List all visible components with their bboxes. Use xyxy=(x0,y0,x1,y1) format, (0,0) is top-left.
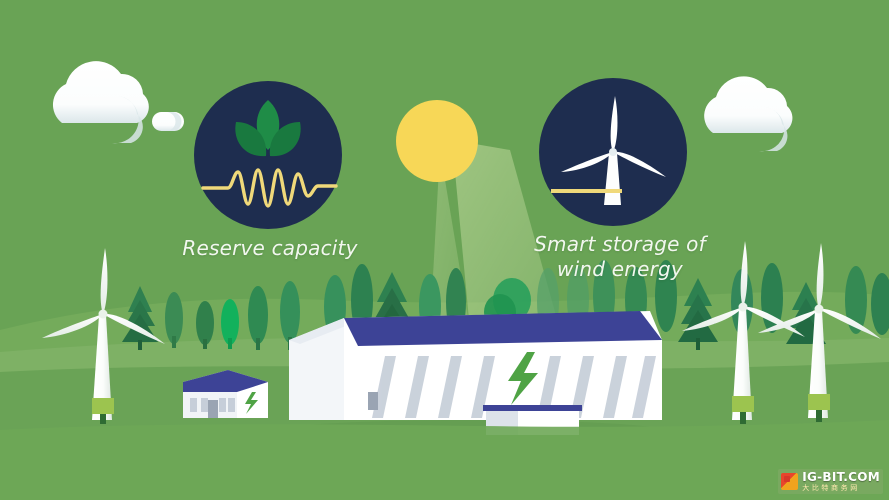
ig-bit-logo-icon xyxy=(781,473,798,490)
illustration-canvas: Reserve capacity Smart storage of wind e… xyxy=(0,0,889,500)
badge-smart-storage-graphic[interactable] xyxy=(539,78,687,226)
badge-label-smart-storage: Smart storage of wind energy xyxy=(500,232,740,282)
watermark-sub-text: 大比特商务网 xyxy=(802,485,880,492)
foreground-grass xyxy=(0,420,889,500)
watermark-texts: IG-BIT.COM 大比特商务网 xyxy=(802,471,880,492)
watermark-main-text: IG-BIT.COM xyxy=(802,471,880,483)
sun-icon xyxy=(396,100,478,182)
landscape-layer xyxy=(0,0,889,500)
cloud-small-left xyxy=(152,112,184,131)
watermark: IG-BIT.COM 大比特商务网 xyxy=(778,469,883,494)
badge-label-reserve-capacity: Reserve capacity xyxy=(160,236,380,261)
battery-storage-warehouse xyxy=(289,311,662,435)
badge-reserve-capacity-graphic[interactable] xyxy=(194,81,342,229)
